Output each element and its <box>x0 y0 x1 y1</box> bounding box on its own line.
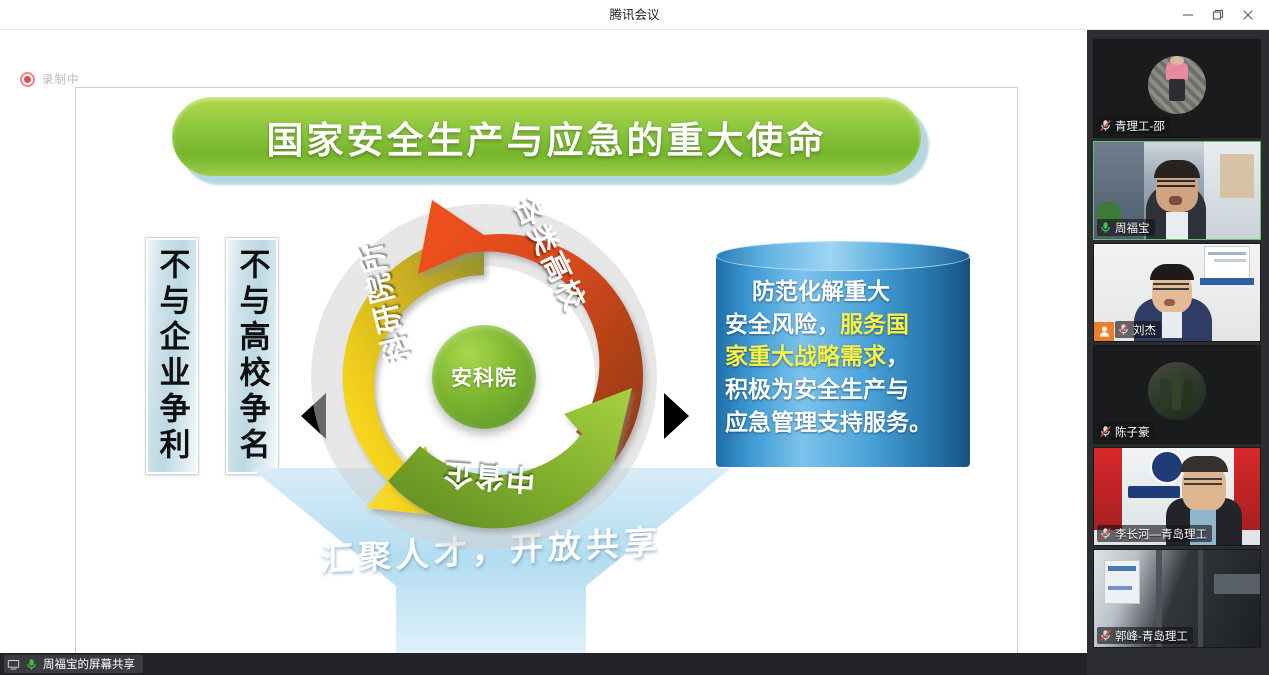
participant-name-chip: 李长河—青岛理工 <box>1097 525 1212 542</box>
participant-name: 陈子豪 <box>1115 424 1150 440</box>
cyl-line-1: 防范化解重大 <box>752 278 890 304</box>
screen-share-bar: 周福宝的屏幕共享 <box>0 653 1087 675</box>
cyl-line-2-plain: 安全风险， <box>725 311 840 337</box>
participant-tile[interactable]: 郭峰-青岛理工 <box>1093 549 1261 648</box>
window-title: 腾讯会议 <box>0 0 1269 30</box>
participant-tile[interactable]: 青理工-邵 <box>1093 39 1261 138</box>
cycle-center-text: 安科院 <box>451 362 517 392</box>
avatar <box>1148 362 1206 420</box>
maximize-icon[interactable] <box>1203 0 1233 30</box>
participant-tile[interactable]: 周福宝 <box>1093 141 1261 240</box>
presentation-slide: 国家安全生产与应急的重大使命 不与企业争利 不与高校争名 <box>75 87 1018 653</box>
vertical-box-no-profit-competition: 不与企业争利 <box>146 238 198 474</box>
cyl-line-3-highlight: 家重大战略需求 <box>725 343 886 369</box>
participant-name: 刘杰 <box>1133 322 1156 338</box>
slide-title-banner: 国家安全生产与应急的重大使命 <box>172 97 929 185</box>
mic-muted-icon <box>1099 527 1112 540</box>
cyl-line-3-plain: ， <box>886 343 909 369</box>
screen-share-icon <box>7 658 20 671</box>
participant-name-chip: 郭峰-青岛理工 <box>1097 627 1193 644</box>
close-icon[interactable] <box>1233 0 1263 30</box>
mic-muted-icon <box>1117 323 1130 336</box>
window-controls <box>1173 0 1263 30</box>
cycle-center-sphere: 安科院 <box>432 325 536 429</box>
app-window: 腾讯会议 录制中 <box>0 0 1269 675</box>
participant-name-chip: 刘杰 <box>1115 321 1161 338</box>
participant-name-chip: 陈子豪 <box>1097 423 1155 440</box>
host-badge <box>1094 322 1114 341</box>
microphone-icon <box>25 658 38 671</box>
participant-name: 郭峰-青岛理工 <box>1115 628 1188 644</box>
right-triangle-icon <box>664 393 689 439</box>
participant-name-chip: 周福宝 <box>1097 219 1155 236</box>
slide-title-text: 国家安全生产与应急的重大使命 <box>267 110 827 164</box>
share-status-chip: 周福宝的屏幕共享 <box>4 655 143 673</box>
participant-name-chip: 青理工-邵 <box>1097 117 1170 134</box>
cycle-diagram: 科研院所 各类高校 中省企 安科院 <box>314 178 654 538</box>
cylinder-text: 防范化解重大 安全风险，服务国 家重大战略需求， 积极为安全生产与 应急管理支持… <box>725 275 961 438</box>
participant-tile[interactable]: 陈子豪 <box>1093 345 1261 444</box>
title-bar: 腾讯会议 <box>0 0 1269 30</box>
vertical-box-2-text: 不与高校争名 <box>237 248 268 464</box>
share-label: 周福宝的屏幕共享 <box>43 656 135 672</box>
vertical-box-no-fame-competition: 不与高校争名 <box>226 238 278 474</box>
mic-muted-icon <box>1099 629 1112 642</box>
slide-title-pill: 国家安全生产与应急的重大使命 <box>172 97 921 176</box>
participant-name: 青理工-邵 <box>1115 118 1165 134</box>
recording-indicator: 录制中 <box>20 71 80 87</box>
mission-cylinder: 防范化解重大 安全风险，服务国 家重大战略需求， 积极为安全生产与 应急管理支持… <box>716 241 970 481</box>
cylinder-top-ellipse <box>716 241 970 271</box>
participant-tile[interactable]: 李长河—青岛理工 <box>1093 447 1261 546</box>
cyl-line-5: 应急管理支持服务。 <box>725 409 932 435</box>
minimize-icon[interactable] <box>1173 0 1203 30</box>
cycle-label-state-enterprises: 中省企 <box>441 455 537 503</box>
participant-video-panel[interactable]: 青理工-邵 周 <box>1087 30 1269 675</box>
cyl-line-4: 积极为安全生产与 <box>725 376 909 402</box>
mic-muted-icon <box>1099 119 1112 132</box>
record-dot-icon <box>20 72 35 87</box>
participant-tile[interactable]: 刘杰 <box>1093 243 1261 342</box>
host-person-icon <box>1098 325 1111 338</box>
participant-name: 周福宝 <box>1115 220 1150 236</box>
participant-name: 李长河—青岛理工 <box>1115 526 1207 542</box>
shared-screen-stage: 录制中 国家安全生产与应急的重大使命 不与企业争利 不与高校争名 <box>0 30 1087 653</box>
avatar <box>1148 56 1206 114</box>
recording-label: 录制中 <box>42 71 80 87</box>
mic-muted-icon <box>1099 425 1112 438</box>
cyl-line-2-highlight: 服务国 <box>840 311 909 337</box>
vertical-box-1-text: 不与企业争利 <box>157 248 188 464</box>
mic-active-icon <box>1099 221 1112 234</box>
